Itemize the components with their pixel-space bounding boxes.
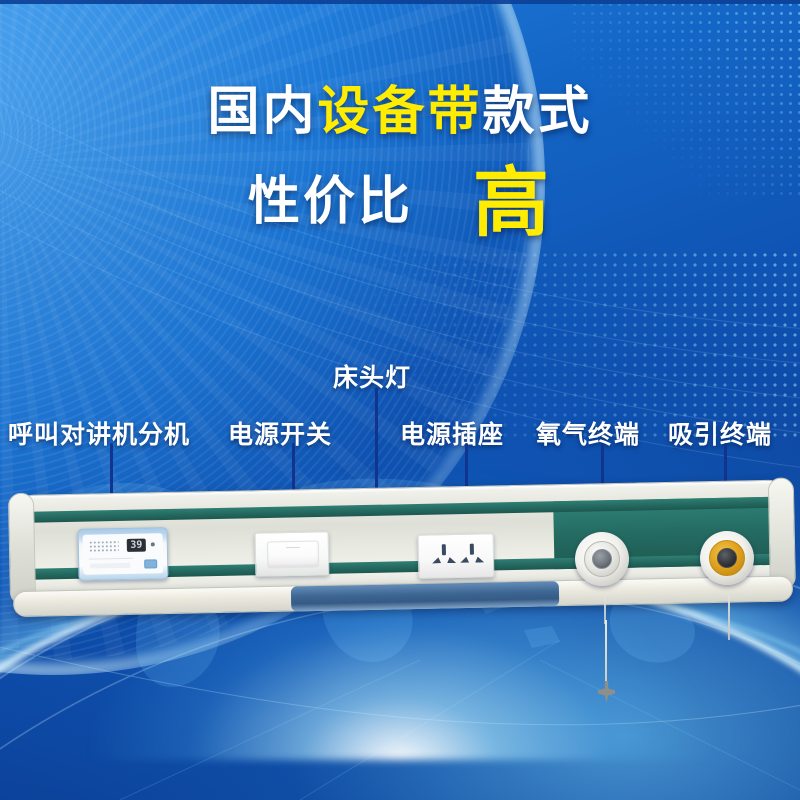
panel-end-cap-right (768, 477, 796, 589)
bed-lamp-diffuser (291, 581, 559, 611)
promo-banner: 国内设备带款式 性价比高 呼叫对讲机分机 电源开关 床头灯 电源插座 氧气终端 … (0, 0, 800, 800)
socket-outlet-2-icon[interactable] (459, 543, 485, 568)
headline-line-2: 性价比高 (0, 166, 800, 242)
intercom-unit[interactable]: 39 (77, 527, 168, 581)
callout-label-intercom: 呼叫对讲机分机 (8, 415, 190, 451)
speaker-grille-icon (89, 540, 119, 554)
intercom-display: 39 (127, 539, 146, 552)
socket-outlet-1-icon[interactable] (431, 544, 457, 569)
intercom-call-button[interactable] (144, 559, 157, 568)
intercom-divider (89, 558, 133, 560)
callout-label-power-socket: 电源插座 (400, 415, 504, 451)
status-led-icon (151, 542, 155, 546)
headline-line1-part3: 款式 (483, 83, 593, 141)
callout-label-suction: 吸引终端 (668, 415, 772, 451)
intercom-label-strip (90, 563, 130, 569)
callout-label-bed-lamp: 床头灯 (333, 358, 411, 394)
pull-cord[interactable] (605, 620, 607, 686)
rocker-switch-icon[interactable] (267, 540, 320, 568)
headline-line1-part2: 设备带 (317, 83, 482, 141)
power-socket[interactable] (418, 533, 495, 579)
halftone-dots-middle (240, 250, 800, 440)
callout-label-oxygen: 氧气终端 (536, 415, 640, 451)
headline-line2-part2: 高 (473, 161, 552, 246)
headline-line1-part1: 国内 (207, 83, 317, 141)
headline-line-1: 国内设备带款式 (0, 86, 800, 138)
panel-end-cap-left (8, 493, 36, 605)
intercom-faceplate: 39 (83, 533, 164, 575)
cord-upper-suction (728, 596, 730, 640)
rocker-mark (286, 547, 300, 548)
power-switch[interactable] (255, 531, 330, 576)
top-edge-bar (0, 0, 800, 4)
headline-line2-part1: 性价比 (248, 173, 413, 231)
callout-label-power-switch: 电源开关 (228, 415, 332, 451)
